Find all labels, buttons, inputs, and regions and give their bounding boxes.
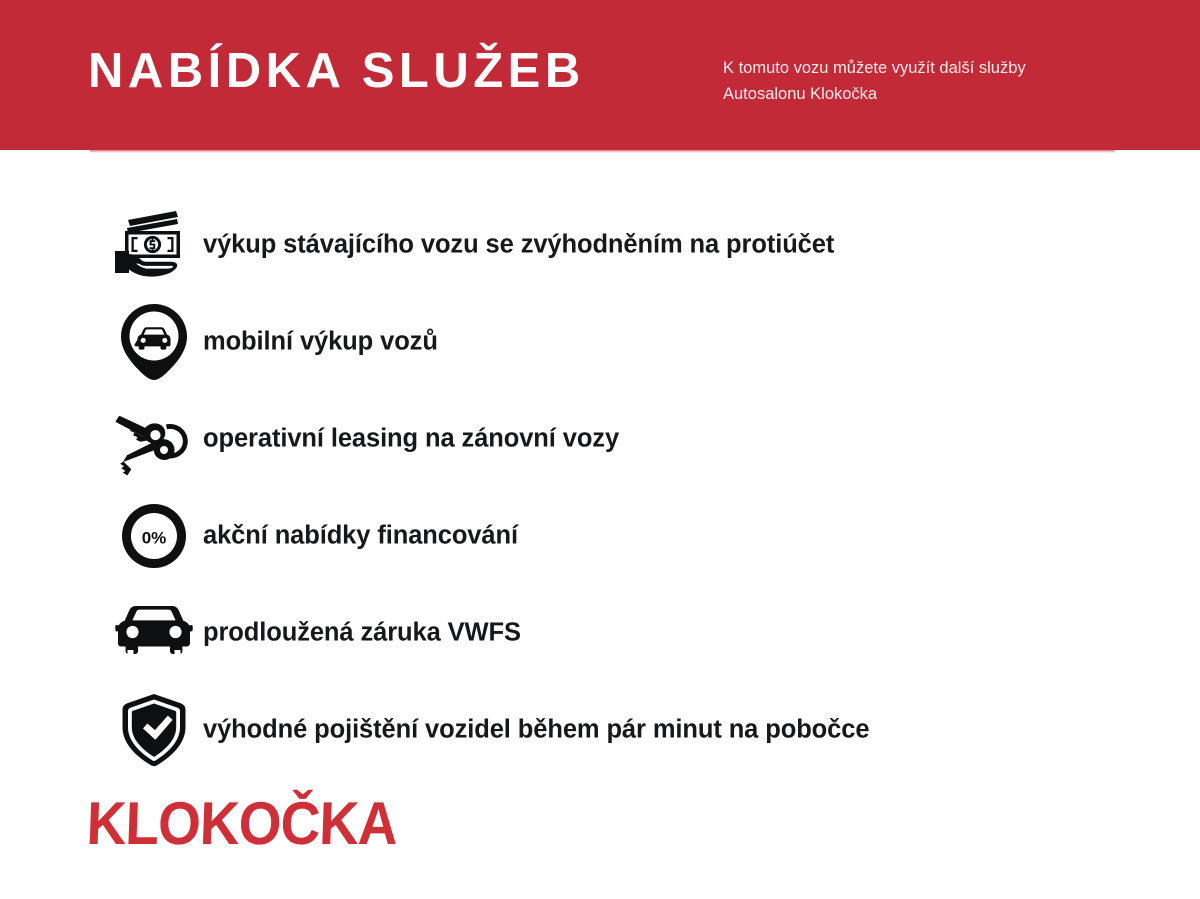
list-item: operativní leasing na zánovní vozy	[0, 390, 1200, 487]
klokocka-logo: KLOKOČKA	[88, 788, 478, 850]
list-item-label: výhodné pojištění vozidel během pár minu…	[203, 715, 869, 744]
list-item: mobilní výkup vozů	[0, 293, 1200, 390]
header-subtitle-line-2: Autosalonu Klokočka	[723, 82, 1123, 108]
list-item-label: operativní leasing na zánovní vozy	[203, 424, 619, 453]
car-keys-icon	[112, 399, 196, 479]
list-item: 0% akční nabídky financování	[0, 487, 1200, 584]
list-item: výhodné pojištění vozidel během pár minu…	[0, 681, 1200, 778]
header-subtitle-line-1: K tomuto vozu můžete využít další služby	[723, 56, 1123, 82]
header-subtitle: K tomuto vozu můžete využít další služby…	[723, 56, 1123, 107]
list-item-label: prodloužená záruka VWFS	[203, 618, 521, 647]
logo-wordmark: KLOKOČKA	[88, 790, 398, 850]
shield-check-icon	[112, 690, 196, 770]
list-item-label: akční nabídky financování	[203, 521, 518, 550]
list-item-label: mobilní výkup vozů	[203, 327, 438, 356]
list-item: prodloužená záruka VWFS	[0, 584, 1200, 681]
map-pin-car-icon	[112, 302, 196, 382]
header-underline-accent	[90, 150, 1115, 153]
zero-percent-label: 0%	[142, 528, 167, 547]
services-list: výkup stávajícího vozu se zvýhodněním na…	[0, 196, 1200, 778]
list-item-label: výkup stávajícího vozu se zvýhodněním na…	[203, 230, 834, 259]
zero-percent-circle-icon: 0%	[112, 496, 196, 576]
car-front-icon	[112, 593, 196, 673]
list-item: výkup stávajícího vozu se zvýhodněním na…	[0, 196, 1200, 293]
page-title: NABÍDKA SLUŽEB	[88, 47, 585, 96]
cash-in-hand-icon	[112, 205, 196, 285]
